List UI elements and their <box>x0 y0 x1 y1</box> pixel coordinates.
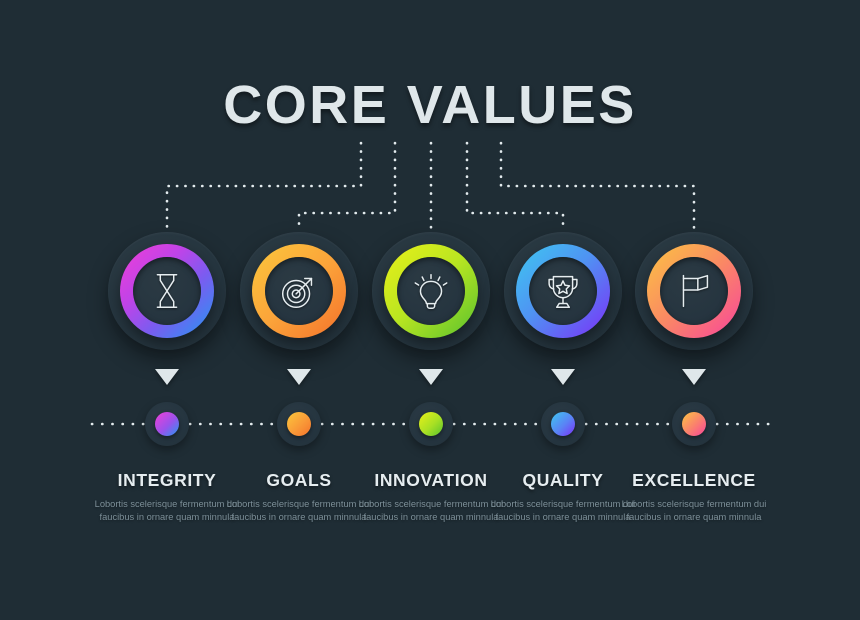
value-node-integrity[interactable] <box>108 232 226 350</box>
page-title: CORE VALUES <box>0 74 860 136</box>
gradient-ring <box>120 244 214 338</box>
hourglass-icon <box>120 244 214 338</box>
value-body: Lobortis scelerisque fermentum dui fauci… <box>599 498 789 524</box>
dot-fill <box>682 412 706 436</box>
value-text-excellence: EXCELLENCE Lobortis scelerisque fermentu… <box>599 470 789 524</box>
dot-fill <box>419 412 443 436</box>
value-node-excellence[interactable] <box>635 232 753 350</box>
arrow-down-goals <box>287 369 311 385</box>
gradient-ring <box>384 244 478 338</box>
value-node-innovation[interactable] <box>372 232 490 350</box>
value-heading: EXCELLENCE <box>599 470 789 491</box>
timeline-dot-excellence[interactable] <box>672 402 716 446</box>
value-node-goals[interactable] <box>240 232 358 350</box>
gradient-ring <box>252 244 346 338</box>
connector-branch-2 <box>299 143 395 228</box>
timeline-dot-integrity[interactable] <box>145 402 189 446</box>
timeline-dot-innovation[interactable] <box>409 402 453 446</box>
arrow-down-quality <box>551 369 575 385</box>
timeline-dot-quality[interactable] <box>541 402 585 446</box>
connector-branch-5 <box>501 143 694 228</box>
dot-fill <box>155 412 179 436</box>
infographic-canvas: CORE VALUES <box>0 0 860 620</box>
dot-fill <box>287 412 311 436</box>
connector-branch-4 <box>467 143 563 228</box>
gradient-ring <box>516 244 610 338</box>
value-node-quality[interactable] <box>504 232 622 350</box>
connector-branch-1 <box>167 143 361 228</box>
timeline-dot-goals[interactable] <box>277 402 321 446</box>
flag-icon <box>647 244 741 338</box>
gradient-ring <box>647 244 741 338</box>
arrow-down-excellence <box>682 369 706 385</box>
lightbulb-icon <box>384 244 478 338</box>
dot-fill <box>551 412 575 436</box>
arrow-down-integrity <box>155 369 179 385</box>
target-arrow-icon <box>252 244 346 338</box>
trophy-star-icon <box>516 244 610 338</box>
arrow-down-innovation <box>419 369 443 385</box>
